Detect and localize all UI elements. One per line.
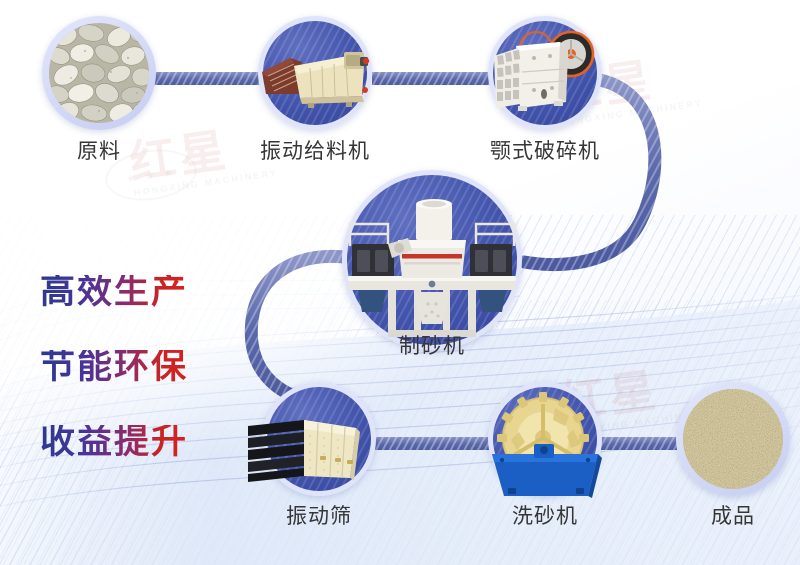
flow-diagram-canvas: 红星 HONGXING MACHINERY 红星 HONGXING MACHIN… (0, 0, 800, 565)
node-label-sand-maker: 制砂机 (352, 336, 512, 357)
node-label-sand-washer: 洗砂机 (478, 506, 612, 527)
connector-sandmaker-to-screen (251, 256, 352, 398)
gravel-stones-photo (49, 23, 149, 123)
flow-node-sand-washer[interactable] (488, 382, 602, 496)
node-label-jaw-crusher: 颚式破碎机 (478, 141, 612, 162)
slogan-profit: 收益提升 (40, 425, 188, 460)
node-label-finished-product: 成品 (676, 506, 790, 527)
flow-node-vibrating-feeder[interactable] (258, 16, 372, 130)
flow-node-finished-product[interactable] (676, 382, 790, 496)
vibrating-screen-machine (262, 382, 376, 496)
node-label-raw-material: 原料 (42, 141, 156, 162)
slogan-efficiency: 高效生产 (40, 275, 188, 310)
node-label-vibrating-screen: 振动筛 (259, 506, 379, 527)
finished-sand-photo (683, 389, 783, 489)
sand-making-machine (342, 170, 522, 350)
flow-node-sand-maker[interactable] (342, 170, 522, 350)
flow-node-raw-material[interactable] (42, 16, 156, 130)
flow-node-jaw-crusher[interactable] (488, 16, 602, 130)
sand-washing-machine (488, 382, 602, 496)
slogan-eco: 节能环保 (40, 350, 188, 385)
vibrating-feeder-machine (258, 16, 372, 130)
node-label-vibrating-feeder: 振动给料机 (248, 141, 382, 162)
slogan-list: 高效生产 节能环保 收益提升 (40, 275, 188, 460)
flow-node-vibrating-screen[interactable] (262, 382, 376, 496)
jaw-crusher-machine (488, 16, 602, 130)
